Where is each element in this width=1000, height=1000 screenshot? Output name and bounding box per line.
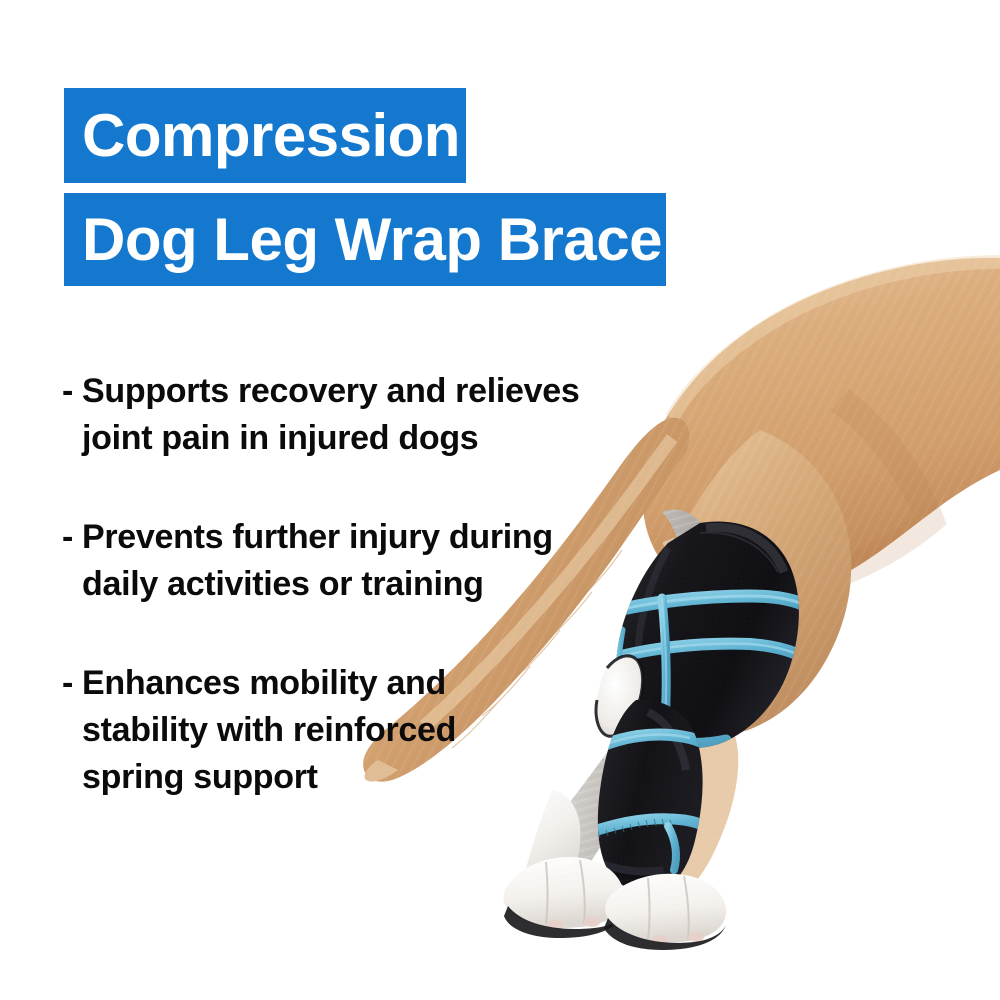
product-banner-image: Compression Dog Leg Wrap Brace - Support… bbox=[0, 0, 1000, 1000]
dog-paw-braced bbox=[604, 874, 726, 950]
bullet-dash-icon: - bbox=[62, 660, 82, 707]
bullet-line: spring support bbox=[82, 754, 456, 801]
feature-bullet-2-text: Prevents further injury during daily act… bbox=[82, 514, 553, 608]
dog-body bbox=[643, 258, 1000, 600]
feature-bullet-3-text: Enhances mobility and stability with rei… bbox=[82, 660, 456, 801]
feature-bullet-list: - Supports recovery and relieves joint p… bbox=[62, 368, 622, 853]
feature-bullet-1: - Supports recovery and relieves joint p… bbox=[62, 368, 622, 462]
feature-bullet-2: - Prevents further injury during daily a… bbox=[62, 514, 622, 608]
dog-braced-thigh bbox=[641, 430, 851, 900]
dog-paw-left bbox=[503, 857, 624, 938]
bullet-line: Supports recovery and relieves bbox=[82, 368, 579, 415]
leg-brace-upper bbox=[596, 500, 820, 770]
bullet-dash-icon: - bbox=[62, 368, 82, 415]
bullet-line: joint pain in injured dogs bbox=[82, 415, 579, 462]
headline-banner-line1: Compression bbox=[64, 88, 466, 183]
bullet-line: daily activities or training bbox=[82, 561, 553, 608]
bullet-line: Enhances mobility and bbox=[82, 660, 456, 707]
headline-banner-line2: Dog Leg Wrap Brace bbox=[64, 193, 666, 286]
bullet-line: Prevents further injury during bbox=[82, 514, 553, 561]
bullet-dash-icon: - bbox=[62, 514, 82, 561]
feature-bullet-1-text: Supports recovery and relieves joint pai… bbox=[82, 368, 579, 462]
feature-bullet-3: - Enhances mobility and stability with r… bbox=[62, 660, 622, 801]
bullet-line: stability with reinforced bbox=[82, 707, 456, 754]
dog-white-belly bbox=[636, 560, 703, 680]
